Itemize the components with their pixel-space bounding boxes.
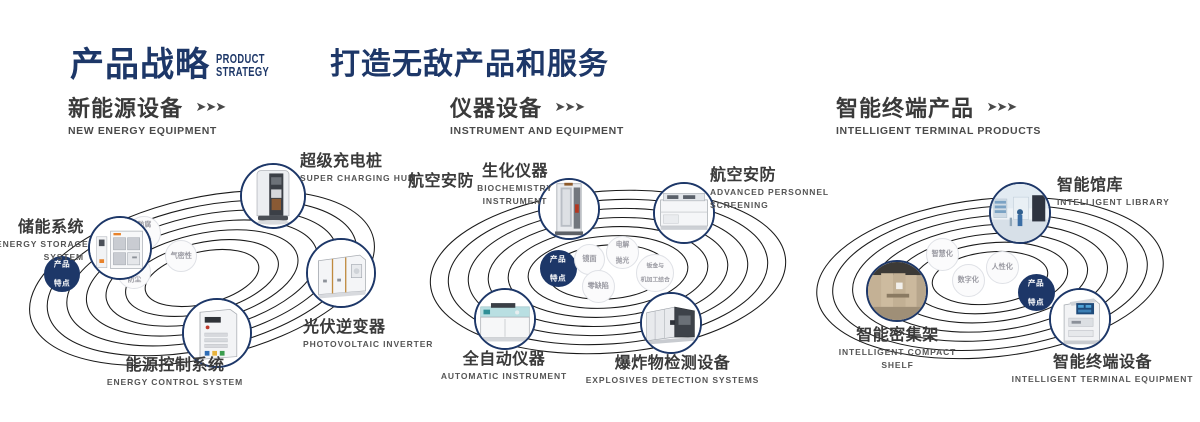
pv-inverter-icon <box>308 240 374 306</box>
feature-bubble-humanized: 人性化 <box>986 251 1019 284</box>
page-title-cn: 产品战略 <box>70 48 210 82</box>
node-explosives-detection-systems[interactable] <box>640 292 702 354</box>
caption-en-line2: SYSTEM <box>0 252 84 263</box>
automatic-analyzer-icon <box>476 290 534 348</box>
page-title-en-line2: STRATEGY <box>216 65 269 78</box>
caption-biochemistry-instrument: 生化仪器 BIOCHEMISTRY INSTRUMENT <box>460 162 570 207</box>
terminal-kiosk-icon <box>1051 290 1109 348</box>
center-bubble-product-features: 产品特点 <box>540 250 577 287</box>
page-header: 产品战略 PRODUCT STRATEGY 打造无敌产品和服务 <box>0 22 1200 82</box>
charging-pile-icon <box>242 165 304 227</box>
node-energy-storage-system[interactable] <box>88 216 152 280</box>
section-title-en: INTELLIGENT TERMINAL PRODUCTS <box>836 125 1041 137</box>
caption-energy-control-system: 能源控制系统 ENERGY CONTROL SYSTEM <box>85 356 265 388</box>
smart-library-icon <box>991 184 1049 242</box>
page-subtitle: 打造无敌产品和服务 <box>330 50 609 80</box>
node-super-charging-hub[interactable] <box>240 163 306 229</box>
node-intelligent-terminal-equipment[interactable] <box>1049 288 1111 350</box>
caption-en-line1: ENERGY STORAGE <box>0 239 84 250</box>
caption-explosives-detection-systems: 爆炸物检测设备 EXPLOSIVES DETECTION SYSTEMS <box>580 354 765 386</box>
center-bubble-product-features: 产品特点 <box>1018 274 1055 311</box>
section-title-cn: 新能源设备 <box>68 96 183 122</box>
feature-bubble-airtightness: 气密性 <box>165 240 197 272</box>
caption-super-charging-hub: 超级充电桩 SUPER CHARGING HUB <box>300 152 415 184</box>
diagram-intelligent-terminal: 智慧化 人性化 数字化 产品特点 智能馆库 INTELLIGENT LIBRAR… <box>790 150 1200 400</box>
node-advanced-personnel-screening[interactable] <box>653 182 715 244</box>
compact-shelf-icon <box>868 262 926 320</box>
node-automatic-instrument[interactable] <box>474 288 536 350</box>
chevron-triple-right-icon: ➤➤➤ <box>195 99 225 115</box>
diagram-new-energy: 产品特点 户外 防腐防锈 防水防尘 气密性 储能系统 ENERGY STORAG… <box>0 150 400 400</box>
caption-intelligent-library: 智能馆库 INTELLIGENT LIBRARY <box>1057 176 1170 208</box>
node-photovoltaic-inverter[interactable] <box>306 238 376 308</box>
explosives-detector-icon <box>642 294 700 352</box>
node-intelligent-compact-shelf[interactable] <box>866 260 928 322</box>
feature-bubble-sheetmetal-machining: 钣金与机加工结合 <box>636 254 674 292</box>
caption-intelligent-compact-shelf: 智能密集架 INTELLIGENT COMPACT SHELF <box>810 326 985 371</box>
feature-bubble-zero-defect: 零缺陷 <box>582 270 615 303</box>
caption-energy-storage-system: 储能系统 ENERGY STORAGE SYSTEM <box>0 218 84 263</box>
section-title-intelligent-terminal: 智能终端产品 ➤➤➤ INTELLIGENT TERMINAL PRODUCTS <box>836 96 1041 137</box>
section-title-cn: 仪器设备 <box>450 96 542 122</box>
caption-intelligent-terminal-equipment: 智能终端设备 INTELLIGENT TERMINAL EQUIPMENT <box>1005 353 1200 385</box>
node-intelligent-library[interactable] <box>989 182 1051 244</box>
section-title-cn: 智能终端产品 <box>836 96 974 122</box>
chevron-triple-right-icon: ➤➤➤ <box>554 99 584 115</box>
feature-bubble-digitalized: 数字化 <box>952 264 985 297</box>
bubble-line2: 特点 <box>54 279 70 288</box>
section-title-en: INSTRUMENT AND EQUIPMENT <box>450 125 624 137</box>
energy-storage-cabinet-icon <box>90 218 150 278</box>
diagram-instrument: 产品特点 镜面 电解抛光 钣金与机加工结合 零缺陷 航空安防 生化仪器 BIOC… <box>400 150 820 400</box>
chevron-triple-right-icon: ➤➤➤ <box>986 99 1016 115</box>
section-title-new-energy: 新能源设备 ➤➤➤ NEW ENERGY EQUIPMENT <box>68 96 225 137</box>
feature-bubble-intelligent: 智慧化 <box>926 238 959 271</box>
caption-automatic-instrument: 全自动仪器 AUTOMATIC INSTRUMENT <box>414 350 594 382</box>
section-title-instrument: 仪器设备 ➤➤➤ INSTRUMENT AND EQUIPMENT <box>450 96 624 137</box>
page-title-en: PRODUCT STRATEGY <box>216 52 269 78</box>
section-title-en: NEW ENERGY EQUIPMENT <box>68 125 225 137</box>
feature-bubble-electropolishing: 电解抛光 <box>606 236 639 269</box>
screening-machine-icon <box>655 184 713 242</box>
